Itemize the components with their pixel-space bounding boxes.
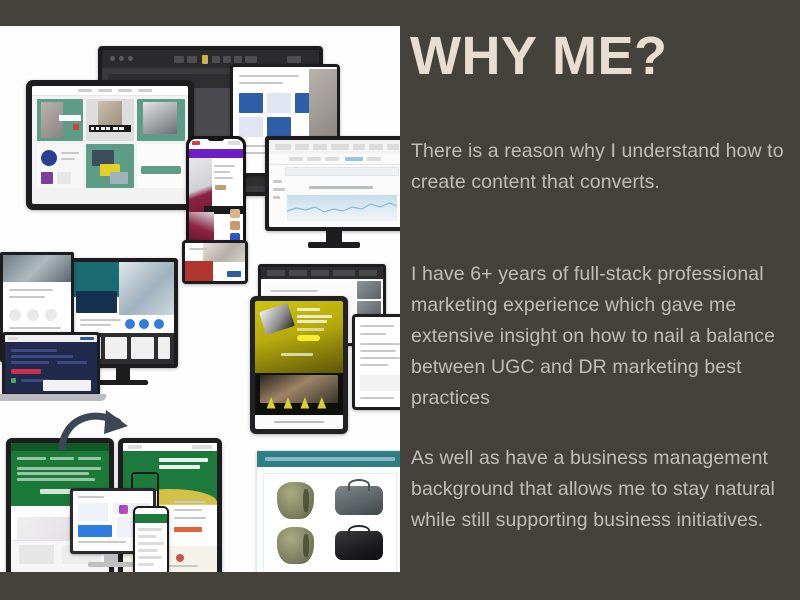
device-yellow-product-tablet xyxy=(250,296,348,434)
device-bottom-phone xyxy=(133,506,169,572)
paragraph-2: I have 6+ years of full-stack profession… xyxy=(411,259,791,414)
product-grid xyxy=(263,473,397,572)
curved-arrow-icon xyxy=(58,404,136,450)
paragraph-1: There is a reason why I understand how t… xyxy=(411,136,791,198)
collage-image-panel xyxy=(0,26,400,572)
product-backpack-olive-2 xyxy=(277,527,314,564)
product-duffel-black xyxy=(335,531,383,560)
product-card-header xyxy=(257,451,400,467)
device-collage xyxy=(0,26,400,572)
device-analytics-monitor xyxy=(265,136,400,231)
monitor-stand-base xyxy=(308,242,360,248)
product-duffel-gray xyxy=(335,486,383,515)
device-navy-laptop xyxy=(2,332,100,396)
page-title: WHY ME? xyxy=(410,28,668,85)
laptop-base xyxy=(0,394,106,401)
slide-root: WHY ME? There is a reason why I understa… xyxy=(0,0,800,600)
monitor-stand-base xyxy=(88,562,136,567)
paragraph-3: As well as have a business management ba… xyxy=(411,443,791,536)
device-white-right-tablet xyxy=(352,314,400,410)
device-teal-product-grid-tablet xyxy=(26,80,194,210)
product-photography-card xyxy=(256,450,400,572)
product-backpack-olive xyxy=(277,482,314,519)
device-red-accent-tablet xyxy=(182,240,248,284)
monitor-stand-base xyxy=(98,380,148,385)
text-column: WHY ME? There is a reason why I understa… xyxy=(410,0,794,600)
